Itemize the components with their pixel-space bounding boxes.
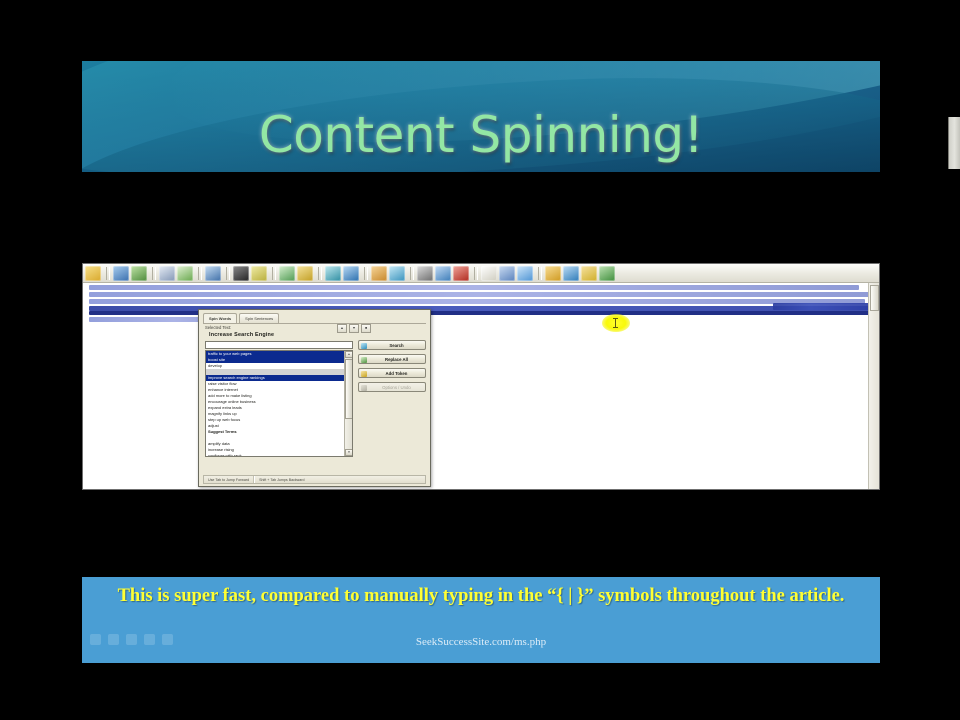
caption-bar: This is super fast, compared to manually… [82, 577, 880, 663]
toolbar-separator [272, 267, 276, 280]
dialog-body: Selected Text: Increase Search Engine ▲ … [203, 324, 426, 473]
spell-check-icon[interactable] [279, 266, 295, 281]
share-arrow-icon[interactable] [599, 266, 615, 281]
save-icon[interactable] [113, 266, 129, 281]
word-count-icon[interactable] [325, 266, 341, 281]
add-token-button[interactable]: Add Token [358, 368, 426, 378]
toolbar-separator [538, 267, 542, 280]
spin-words-dialog[interactable]: Spin Words Spin Sentences Selected Text:… [198, 309, 431, 487]
app-toolbar[interactable] [83, 264, 879, 283]
toolbar-separator [198, 267, 202, 280]
help-icon[interactable] [435, 266, 451, 281]
save-all-icon[interactable] [131, 266, 147, 281]
toolbar-separator [410, 267, 414, 280]
document-selected-line [89, 292, 873, 297]
preview-icon[interactable] [389, 266, 405, 281]
spin-up-button[interactable]: ▲ [337, 324, 347, 333]
scroll-up-arrow-icon[interactable]: ▲ [345, 351, 353, 358]
list-item[interactable]: configure with rank [206, 453, 352, 457]
toolbar-separator [318, 267, 322, 280]
statusbar-hint-backward: Shift + Tab Jumps Backward [255, 478, 308, 482]
facebook-icon[interactable] [90, 634, 101, 645]
new-doc-icon[interactable] [481, 266, 497, 281]
social-icons [90, 634, 173, 645]
caption-text: This is super fast, compared to manually… [100, 584, 862, 608]
redo-icon[interactable] [177, 266, 193, 281]
dialog-buttons: Search Replace All Add Token Options / U… [358, 340, 426, 396]
toolbar-separator [152, 267, 156, 280]
options-undo-button: Options / Undo [358, 382, 426, 392]
dialog-tabstrip[interactable]: Spin Words Spin Sentences [203, 313, 426, 324]
link-icon[interactable] [499, 266, 515, 281]
pen-tool-icon[interactable] [205, 266, 221, 281]
document-selected-line [89, 285, 859, 290]
share-icon[interactable] [162, 634, 173, 645]
text-caret-highlight [602, 314, 630, 332]
title-banner: Content Spinning! [82, 56, 880, 180]
close-icon[interactable] [453, 266, 469, 281]
twitter-icon[interactable] [108, 634, 119, 645]
search-button[interactable]: Search [358, 340, 426, 350]
spin-options-button[interactable]: ■ [361, 324, 371, 333]
undo-icon [361, 385, 367, 391]
rss-icon[interactable] [126, 634, 137, 645]
refresh-icon[interactable] [517, 266, 533, 281]
scrollbar-thumb[interactable] [870, 285, 879, 311]
toolbar-separator [226, 267, 230, 280]
tab-spin-sentences[interactable]: Spin Sentences [239, 313, 279, 323]
banner-bottom-band [82, 172, 880, 180]
page-title: Content Spinning! [82, 110, 880, 160]
text-caret-icon [615, 318, 616, 328]
statusbar-hint-forward: Use Tab to Jump Forward [204, 478, 253, 482]
add-token-button-label: Add Token [386, 371, 408, 376]
key-icon[interactable] [581, 266, 597, 281]
toolbar-separator [364, 267, 368, 280]
open-folder-icon[interactable] [85, 266, 101, 281]
replace-all-button-label: Replace All [385, 357, 408, 362]
offscreen-window-edge [948, 117, 960, 169]
toolbar-separator [106, 267, 110, 280]
spin-controls[interactable]: ▲ ▼ ■ [337, 324, 371, 333]
export-icon[interactable] [371, 266, 387, 281]
spin-wand-icon[interactable] [233, 266, 249, 281]
youtube-icon[interactable] [144, 634, 155, 645]
tab-spin-words[interactable]: Spin Words [203, 313, 237, 323]
app-screenshot-panel: Spin Words Spin Sentences Selected Text:… [82, 263, 880, 490]
synonym-list[interactable]: traffic to your web pages boost site dev… [205, 350, 353, 457]
caption-url[interactable]: SeekSuccessSite.com/ms.php [82, 636, 880, 648]
search-button-label: Search [389, 343, 403, 348]
search-input[interactable] [205, 341, 353, 349]
undo-icon[interactable] [159, 266, 175, 281]
paste-icon[interactable] [251, 266, 267, 281]
document-selected-line [89, 299, 865, 304]
dialog-statusbar: Use Tab to Jump Forward Shift + Tab Jump… [203, 475, 426, 484]
replace-icon [361, 357, 367, 363]
add-token-icon [361, 371, 367, 377]
document-vertical-scrollbar[interactable] [868, 283, 879, 489]
globe-icon[interactable] [343, 266, 359, 281]
synonym-list-scrollbar[interactable]: ▲ ▼ [344, 351, 352, 456]
selected-word-value: Increase Search Engine [209, 332, 274, 338]
settings-icon[interactable] [417, 266, 433, 281]
replace-all-button[interactable]: Replace All [358, 354, 426, 364]
selected-text-label: Selected Text: [205, 325, 231, 330]
folder-yellow-icon[interactable] [545, 266, 561, 281]
toolbar-separator [474, 267, 478, 280]
spin-down-button[interactable]: ▼ [349, 324, 359, 333]
scrollbar-thumb[interactable] [345, 359, 353, 419]
scroll-down-arrow-icon[interactable]: ▼ [345, 449, 353, 456]
document-selected-line [773, 303, 869, 310]
banner-top-band [82, 56, 880, 61]
thesaurus-icon[interactable] [297, 266, 313, 281]
browser-icon[interactable] [563, 266, 579, 281]
options-undo-button-label: Options / Undo [382, 385, 411, 390]
search-icon [361, 343, 367, 349]
